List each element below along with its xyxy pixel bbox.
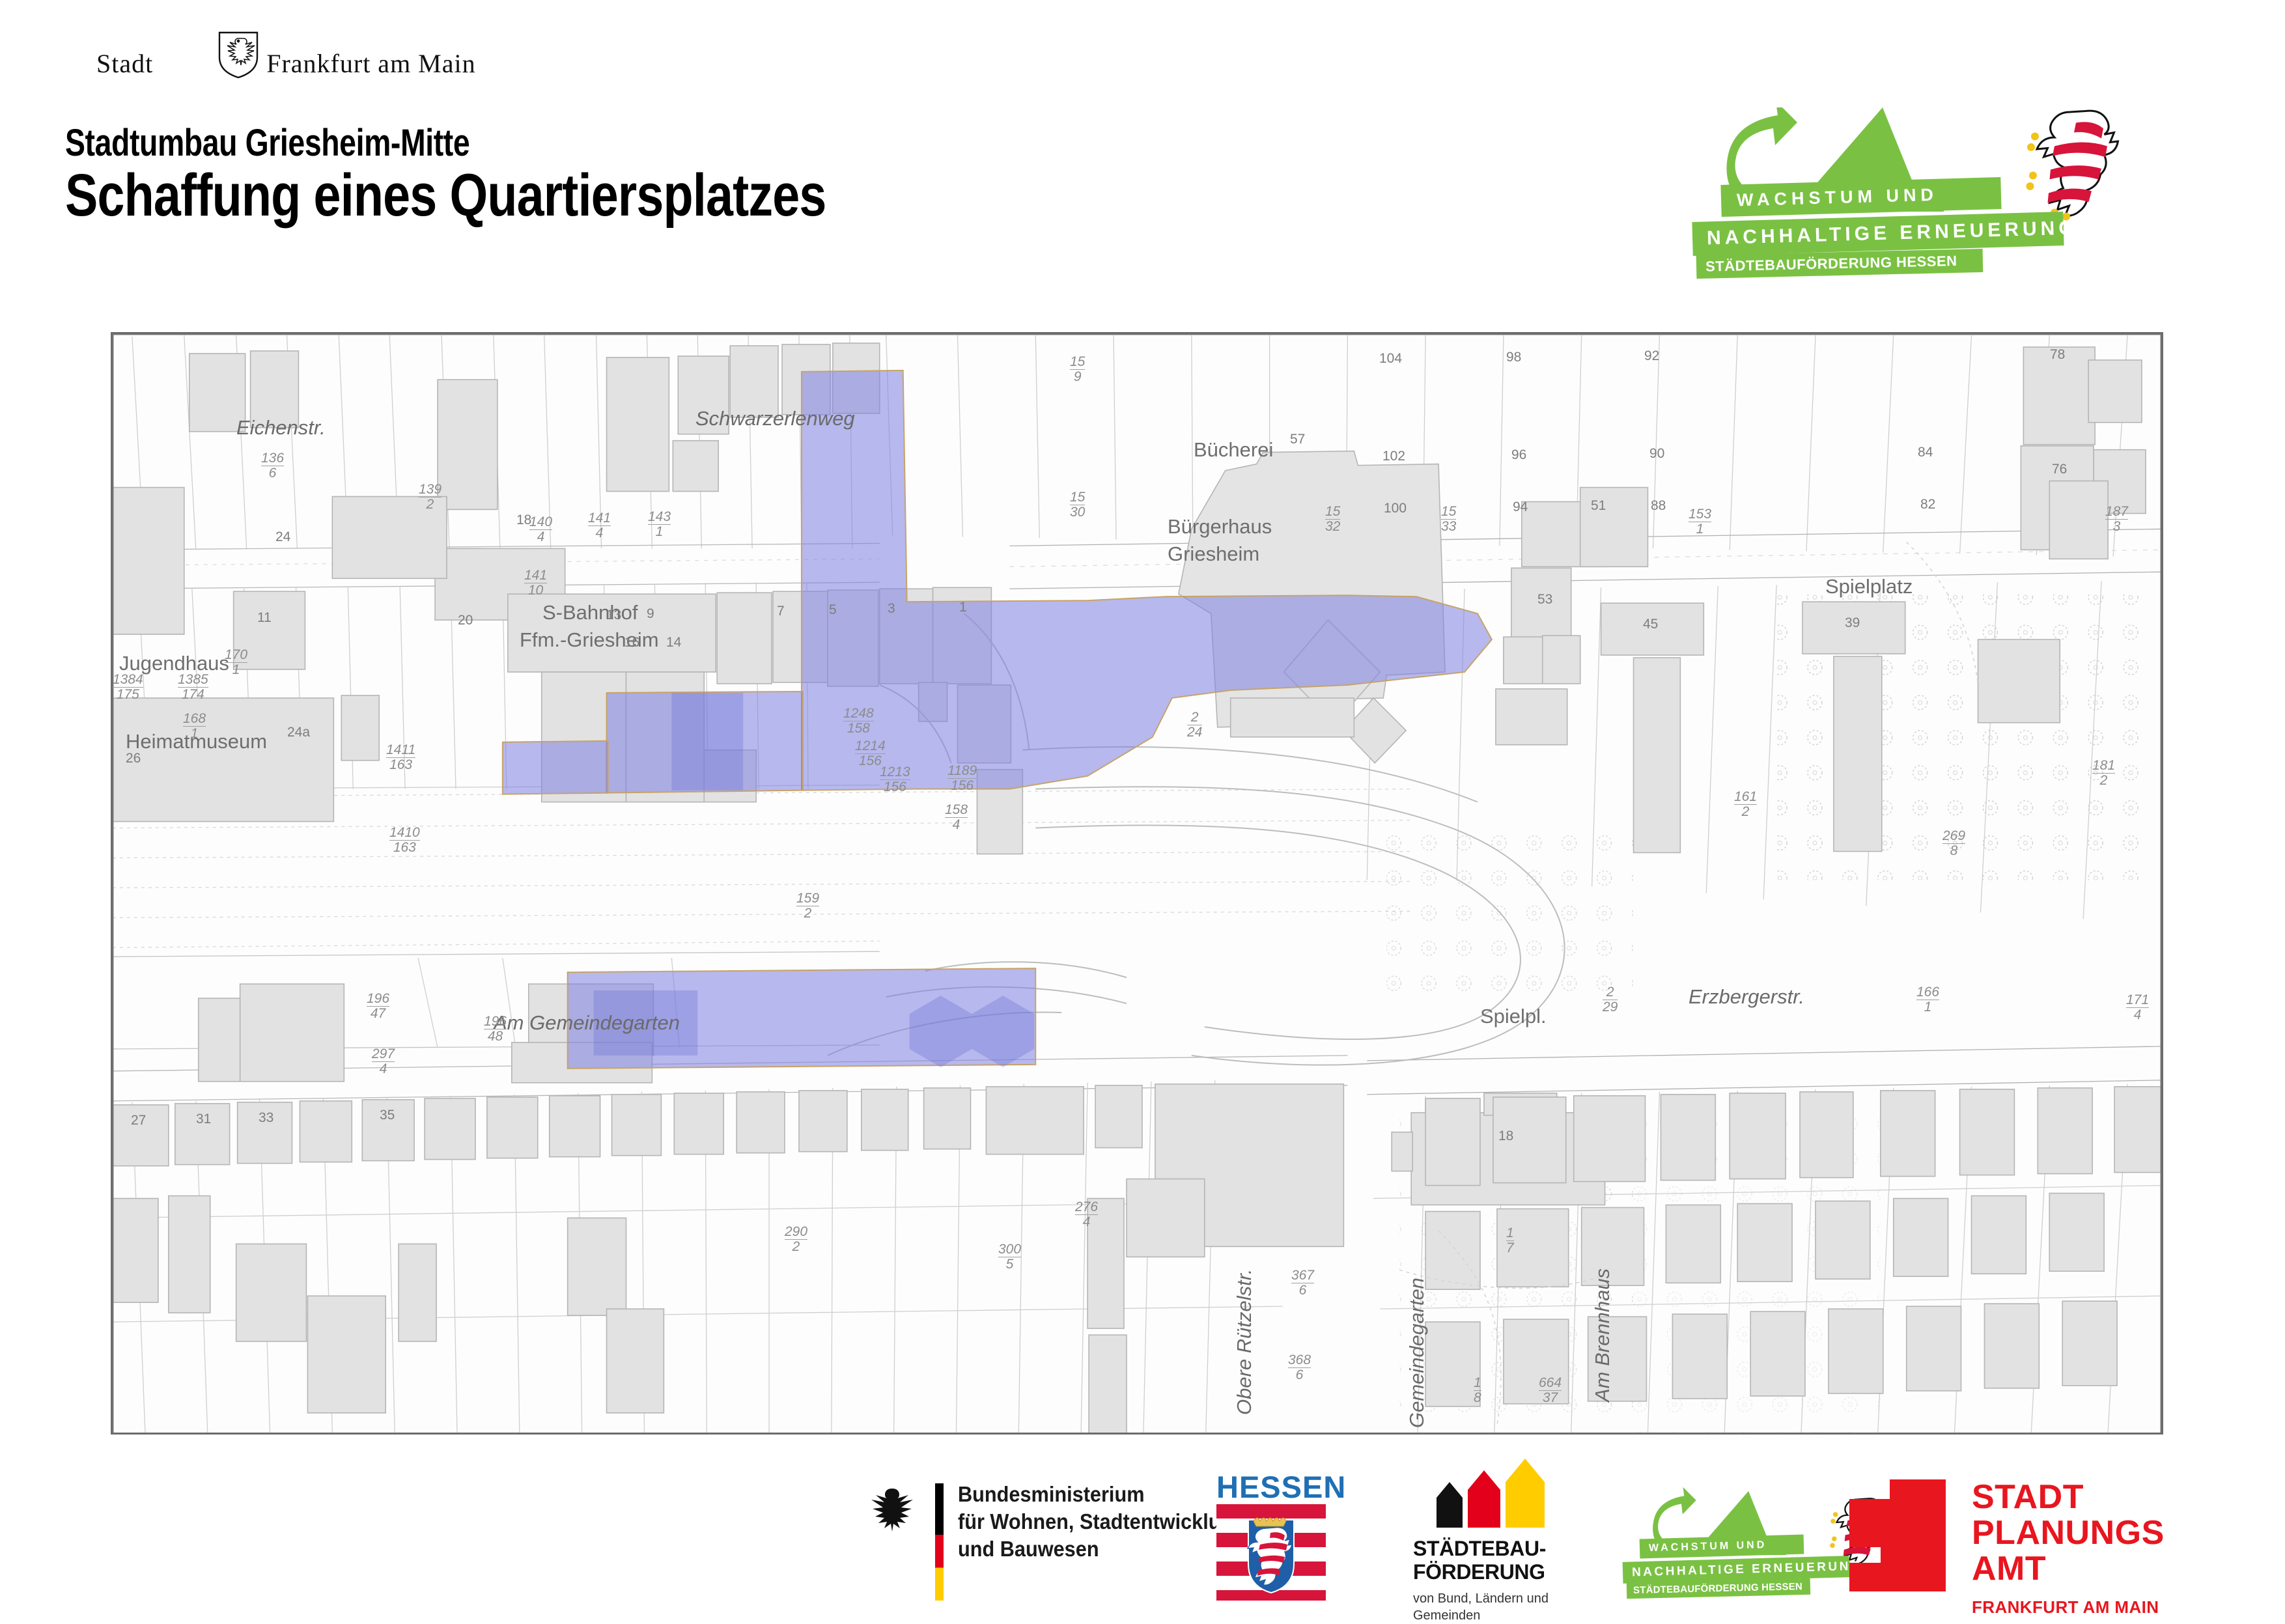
hessen-lion-icon [2015,101,2133,225]
building-number: 13 [606,608,621,623]
wun-footer-band-line3: STÄDTEBAUFÖRDERUNG HESSEN [1627,1578,1810,1599]
house-number: 76 [2052,462,2067,477]
parcel-fraction: 3676 [1291,1268,1314,1297]
parcel-fraction: 19648 [484,1015,507,1043]
house-number: 78 [2050,347,2065,363]
building-number: 18 [516,512,531,528]
street-label-obere-ruetzelstr: Obere Rützelstr. [1233,1268,1256,1415]
parcel-fraction: 2974 [372,1047,395,1076]
street-label-schwarzerlenweg: Schwarzerlenweg [695,407,855,430]
parcel-fraction: 18 [1474,1376,1481,1405]
building-number: 20 [458,613,473,628]
parcel-fraction: 1592 [796,891,819,920]
house-number: 104 [1379,351,1402,367]
bmwsb-wordmark: Bundesministerium für Wohnen, Stadtentwi… [958,1481,1245,1563]
parcel-fraction: 1366 [261,451,284,480]
building-number: 24 [275,529,290,545]
building-number: 3 [888,601,895,617]
parcel-fraction: 1532 [1325,505,1340,533]
house-number: 84 [1918,445,1933,460]
project-kicker: Stadtumbau Griesheim-Mitte [65,121,470,165]
wun-band-line2: NACHHALTIGE ERNEUERUNG [1692,212,2064,256]
wachstum-erneuerung-logo: WACHSTUM UND NACHHALTIGE ERNEUERUNG STÄD… [1690,107,2165,277]
parcel-fraction: 1661 [1916,985,1939,1014]
parcel-fraction: 1533 [1441,505,1456,533]
building-number: 27 [131,1113,146,1128]
eagle-crest-icon [218,31,259,77]
parcel-fraction: 1411163 [386,743,415,772]
house-number: 100 [1384,501,1407,516]
parcel-fraction: 14110 [524,568,547,597]
parcel-fraction: 1531 [1689,507,1711,536]
building-number: 16 [624,635,639,651]
house-number: 92 [1644,348,1659,364]
parcel-fraction: 1248158 [843,707,874,735]
parcel-fraction: 19647 [367,992,389,1020]
parcel-fraction: 1213156 [880,765,910,794]
staedtebaufoerderung-wordmark: STÄDTEBAU- FÖRDERUNG [1413,1537,1628,1584]
parcel-fraction: 1392 [419,483,442,511]
building-number: 7 [777,604,785,619]
staedtebaufoerderung-logo: STÄDTEBAU- FÖRDERUNG von Bund, Ländern u… [1413,1481,1628,1624]
parcel-fraction: 1404 [529,515,552,544]
house-number: 96 [1511,447,1526,463]
city-logo-right-word: Frankfurt am Main [266,51,475,77]
house-number: 98 [1506,350,1521,365]
street-label-gemeindegarten: Gemeindegarten [1405,1278,1429,1428]
german-flag-bar [935,1483,944,1601]
parcel-fraction: 1812 [2092,759,2115,787]
parcel-fraction: 2764 [1075,1200,1098,1229]
parcel-fraction: 1584 [945,803,968,832]
spa-line1: STADT [1972,1479,2165,1515]
building-number: 35 [380,1108,395,1123]
funding-logo-bar: Bundesministerium für Wohnen, Stadtentwi… [0,1473,2285,1615]
parcel-fraction: 1701 [225,648,247,677]
stf-title-line2: FÖRDERUNG [1413,1560,1628,1584]
hessen-flag-icon [1216,1504,1326,1601]
stadtplanungsamt-logo: STADT PLANUNGS AMT FRANKFURT AM MAIN [1849,1479,2165,1617]
spa-line2: PLANUNGS [1972,1515,2165,1551]
building-number: 5 [829,602,837,618]
street-label-erzbergerstr: Erzbergerstr. [1689,985,1804,1009]
building-number: 31 [196,1112,211,1127]
house-number: 94 [1513,499,1528,515]
parcel-fraction: 3686 [1288,1353,1311,1382]
parcel-fraction: 1873 [2105,505,2128,533]
bmwsb-logo: Bundesministerium für Wohnen, Stadtentwi… [866,1481,1267,1598]
building-number: 14 [666,635,681,651]
bmwsb-line1: Bundesministerium [958,1481,1245,1508]
parcel-fraction: 1385174 [178,673,208,701]
parcel-fraction: 2698 [1942,829,1965,858]
parcel-fraction: 17 [1506,1226,1514,1255]
stf-sub-line2: Gemeinden [1413,1608,1628,1624]
parcel-fraction: 1410163 [389,826,420,854]
house-number: 53 [1537,592,1552,608]
page-title: Schaffung eines Quartiersplatzes [65,161,826,230]
parcel-fraction: 1214156 [855,739,886,768]
parcel-fraction: 1189156 [947,764,977,792]
city-logo-left-word: Stadt [96,51,153,77]
parcel-fraction: 229 [1603,985,1618,1014]
parcel-fraction: 1530 [1070,490,1085,519]
parcel-fraction: 1414 [588,511,611,540]
poi-label-buecherei: Bücherei [1194,438,1273,462]
hessen-logo: HESSEN [1216,1473,1327,1603]
house-number: 102 [1382,449,1405,464]
house-number: 90 [1649,446,1664,462]
parcel-fraction: 1384175 [113,673,143,701]
parcel-fraction: 66437 [1539,1376,1562,1405]
parcel-fraction: 3005 [998,1242,1021,1271]
street-label-am-brennhaus: Am Brennhaus [1591,1268,1614,1402]
building-number: 33 [259,1110,273,1126]
spa-line3: AMT [1972,1551,2165,1587]
parcel-fraction: 1714 [2126,993,2149,1022]
stf-sub-line1: von Bund, Ländern und [1413,1591,1628,1608]
poi-label-spielpl: Spielpl. [1480,1005,1547,1028]
city-of-frankfurt-logo: Stadt Frankfurt am Main [96,31,526,77]
parcel-fraction: 224 [1187,710,1202,739]
house-number: 57 [1290,432,1305,447]
poi-label-s-bahnhof: S-Bahnhof [542,601,638,624]
house-number: 39 [1845,615,1860,631]
bmwsb-line2: für Wohnen, Stadtentwicklung [958,1508,1245,1535]
parcel-fraction: 159 [1070,355,1085,384]
building-number: 1 [959,600,967,615]
stadtplanungsamt-mark-icon [1849,1479,1946,1591]
bmwsb-line3: und Bauwesen [958,1535,1245,1563]
stf-title-line1: STÄDTEBAU- [1413,1537,1628,1560]
federal-eagle-icon [866,1486,917,1546]
stadtplanungsamt-wordmark: STADT PLANUNGS AMT FRANKFURT AM MAIN [1972,1479,2165,1617]
poi-label-buergerhaus: Bürgerhaus [1168,515,1272,539]
hessen-shield-icon [1247,1511,1295,1594]
parcel-fraction: 1612 [1734,790,1757,819]
house-number: 88 [1651,498,1666,514]
street-label-am-gemeindegarten: Am Gemeindegarten [494,1011,680,1035]
parcel-fraction: 2902 [785,1225,807,1253]
three-houses-icon [1413,1481,1628,1528]
staedtebaufoerderung-subline: von Bund, Ländern und Gemeinden [1413,1591,1628,1624]
page-header: Stadt Frankfurt am Main Stadtumbau Gries… [0,0,2285,306]
building-number: 9 [647,606,654,622]
parcel-fraction: 1681 [183,712,206,740]
hessen-wordmark: HESSEN [1216,1473,1327,1502]
building-number: 24a [287,725,310,740]
building-number: 18 [1498,1128,1513,1144]
house-number: 82 [1920,497,1935,512]
building-number: 26 [126,751,141,766]
house-number: 45 [1643,617,1658,632]
cadastral-map[interactable]: Eichenstr. Schwarzerlenweg Am Gemeindega… [111,332,2163,1435]
poi-label-griesheim: Griesheim [1168,542,1259,566]
poi-label-spielplatz: Spielplatz [1825,575,1913,598]
parcel-fraction: 1431 [648,510,671,539]
building-number: 11 [257,610,272,626]
house-number: 51 [1591,498,1606,514]
street-label-eichenstr: Eichenstr. [236,416,326,440]
